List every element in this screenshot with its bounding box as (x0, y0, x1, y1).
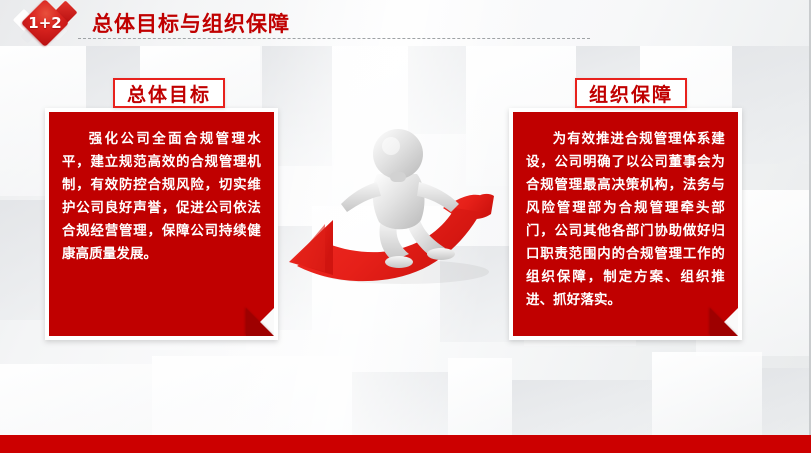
section-number-badge: 1+2 (10, 2, 86, 46)
panel-organizational-guarantee: 为有效推进合规管理体系建设，公司明确了以公司董事会为合规管理最高决策机构，法务与… (509, 108, 742, 340)
panel-fold-corner (710, 308, 738, 336)
slide-header: 1+2 总体目标与组织保障 (0, 0, 811, 46)
panel-overall-objective-caption-label: 总体目标 (127, 80, 211, 107)
panel-organizational-guarantee-caption: 组织保障 (575, 78, 687, 108)
panel-overall-objective: 强化公司全面合规管理水平，建立规范高效的合规管理机制，有效防控合规风险，切实维护… (45, 108, 278, 340)
header-divider (78, 38, 590, 39)
panel-organizational-guarantee-caption-label: 组织保障 (589, 80, 673, 107)
panel-overall-objective-caption: 总体目标 (113, 78, 225, 108)
panel-organizational-guarantee-body: 为有效推进合规管理体系建设，公司明确了以公司董事会为合规管理最高决策机构，法务与… (513, 112, 738, 336)
panel-overall-objective-body: 强化公司全面合规管理水平，建立规范高效的合规管理机制，有效防控合规风险，切实维护… (49, 112, 274, 336)
bottom-accent-bar (0, 435, 811, 453)
slide-canvas: 1+2 总体目标与组织保障 (0, 0, 811, 453)
panel-overall-objective-text: 强化公司全面合规管理水平，建立规范高效的合规管理机制，有效防控合规风险，切实维护… (62, 128, 261, 266)
panel-organizational-guarantee-text: 为有效推进合规管理体系建设，公司明确了以公司董事会为合规管理最高决策机构，法务与… (526, 128, 725, 312)
page-title: 总体目标与组织保障 (92, 8, 290, 38)
figure-surfing-red-arrow-illustration (285, 112, 515, 307)
panel-fold-corner (246, 308, 274, 336)
section-number-label: 1+2 (24, 14, 66, 32)
